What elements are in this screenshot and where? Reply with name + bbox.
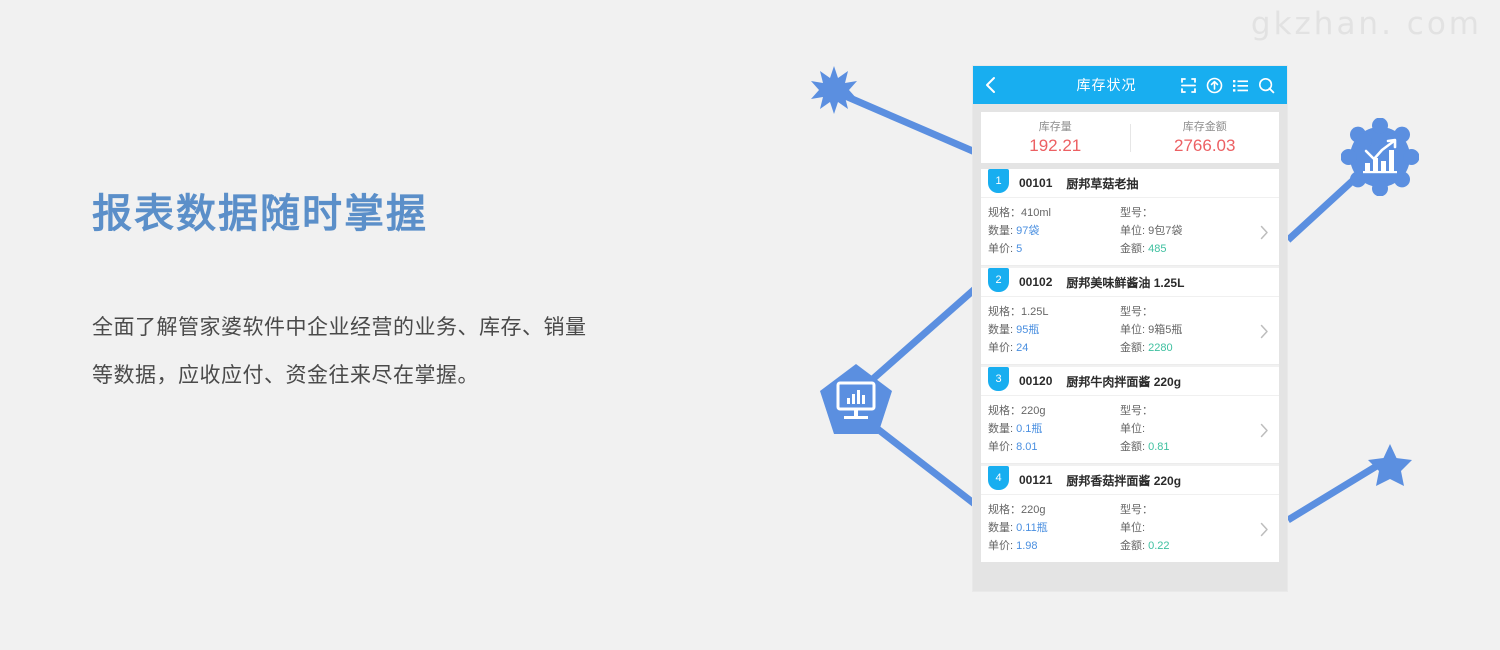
upload-circle-icon[interactable] [1206, 77, 1223, 94]
model-row: 型号： [1120, 204, 1260, 222]
item-name: 厨邦牛肉拌面酱 220g [1066, 373, 1181, 390]
qty-label: 数量: [988, 324, 1013, 336]
spec-label: 规格： [988, 504, 1021, 516]
amount-row: 金额: 2280 [1120, 339, 1260, 357]
app-title: 库存状况 [1005, 75, 1180, 95]
model-label: 型号： [1120, 405, 1153, 417]
price-label: 单价: [988, 540, 1013, 552]
scan-icon[interactable] [1180, 77, 1197, 94]
spec-label: 规格： [988, 306, 1021, 318]
spec-row: 规格：220g [988, 501, 1120, 519]
pentagon-monitor-badge [818, 362, 894, 438]
star-badge [1367, 442, 1413, 488]
list-item-header[interactable]: 2 00102 厨邦美味鲜酱油 1.25L [981, 268, 1279, 297]
spec-label: 规格： [988, 207, 1021, 219]
unit-label: 单位: [1120, 225, 1145, 237]
unit-label: 单位: [1120, 423, 1145, 435]
model-label: 型号： [1120, 504, 1153, 516]
qty-row: 数量: 0.11瓶 [988, 519, 1120, 537]
item-code: 00101 [1019, 176, 1052, 190]
qty-label: 数量: [988, 225, 1013, 237]
qty-label: 数量: [988, 423, 1013, 435]
qty-value: 95瓶 [1016, 324, 1039, 336]
item-name: 厨邦香菇拌面酱 220g [1066, 472, 1181, 489]
app-header: 库存状况 [973, 66, 1287, 104]
qty-value: 0.1瓶 [1016, 423, 1042, 435]
item-code: 00120 [1019, 374, 1052, 388]
model-row: 型号： [1120, 303, 1260, 321]
spec-value: 410ml [1021, 207, 1051, 219]
price-value: 8.01 [1016, 441, 1037, 453]
page-root: gkzhan. com 报表数据随时掌握 全面了解管家婆软件中企业经营的业务、库… [0, 0, 1500, 650]
amount-row: 金额: 0.81 [1120, 438, 1260, 456]
unit-row: 单位: [1120, 420, 1260, 438]
price-row: 单价: 1.98 [988, 537, 1120, 555]
spec-label: 规格： [988, 405, 1021, 417]
bar-chart-trend-icon [1341, 118, 1419, 196]
qty-value: 0.11瓶 [1016, 522, 1048, 534]
spec-value: 220g [1021, 405, 1045, 417]
list-icon[interactable] [1232, 77, 1249, 94]
monitor-chart-icon [818, 362, 894, 438]
amount-row: 金额: 485 [1120, 240, 1260, 258]
list-item-details[interactable]: 规格：1.25L 数量: 95瓶 单价: 24 型号： 单位: 9箱5瓶 金额:… [981, 297, 1279, 365]
page-title: 报表数据随时掌握 [92, 190, 652, 238]
phone-footer-space [973, 562, 1287, 591]
back-button[interactable] [985, 76, 1005, 94]
chevron-right-icon[interactable] [1260, 225, 1269, 245]
chevron-right-icon[interactable] [1260, 522, 1269, 542]
summary-cell-quantity: 库存量 192.21 [981, 119, 1130, 156]
price-value: 1.98 [1016, 540, 1037, 552]
unit-value: 9箱5瓶 [1148, 324, 1182, 336]
model-label: 型号： [1120, 306, 1153, 318]
watermark: gkzhan. com [1251, 6, 1482, 42]
spec-value: 1.25L [1021, 306, 1049, 318]
summary-label: 库存金额 [1131, 119, 1280, 135]
price-label: 单价: [988, 441, 1013, 453]
unit-label: 单位: [1120, 324, 1145, 336]
model-label: 型号： [1120, 207, 1153, 219]
summary-card: 库存量 192.21 库存金额 2766.03 [981, 112, 1279, 163]
price-row: 单价: 8.01 [988, 438, 1120, 456]
detail-col-left: 规格：220g 数量: 0.11瓶 单价: 1.98 [988, 501, 1120, 555]
unit-value: 9包7袋 [1148, 225, 1182, 237]
summary-cell-amount: 库存金额 2766.03 [1131, 119, 1280, 156]
chevron-right-icon[interactable] [1260, 324, 1269, 344]
unit-label: 单位: [1120, 522, 1145, 534]
spec-row: 规格：410ml [988, 204, 1120, 222]
unit-row: 单位: 9箱5瓶 [1120, 321, 1260, 339]
item-number-badge: 1 [988, 169, 1009, 193]
summary-label: 库存量 [981, 119, 1130, 135]
price-value: 24 [1016, 342, 1028, 354]
list-item-details[interactable]: 规格：220g 数量: 0.1瓶 单价: 8.01 型号： 单位: 金额: 0.… [981, 396, 1279, 464]
qty-row: 数量: 97袋 [988, 222, 1120, 240]
chevron-right-icon[interactable] [1260, 423, 1269, 443]
price-label: 单价: [988, 342, 1013, 354]
marketing-copy: 报表数据随时掌握 全面了解管家婆软件中企业经营的业务、库存、销量等数据，应收应付… [92, 190, 652, 400]
inventory-list: 1 00101 厨邦草菇老抽 规格：410ml 数量: 97袋 单价: 5 型号… [981, 169, 1279, 562]
item-name: 厨邦草菇老抽 [1066, 175, 1138, 192]
search-icon[interactable] [1258, 77, 1275, 94]
page-description: 全面了解管家婆软件中企业经营的业务、库存、销量等数据，应收应付、资金往来尽在掌握… [92, 238, 592, 400]
amount-value: 485 [1148, 243, 1166, 255]
model-row: 型号： [1120, 402, 1260, 420]
list-item-header[interactable]: 4 00121 厨邦香菇拌面酱 220g [981, 466, 1279, 495]
qty-value: 97袋 [1016, 225, 1039, 237]
spec-row: 规格：1.25L [988, 303, 1120, 321]
detail-col-right: 型号： 单位: 9包7袋 金额: 485 [1120, 204, 1260, 258]
item-code: 00102 [1019, 275, 1052, 289]
list-item-header[interactable]: 3 00120 厨邦牛肉拌面酱 220g [981, 367, 1279, 396]
amount-label: 金额: [1120, 243, 1145, 255]
detail-col-left: 规格：220g 数量: 0.1瓶 单价: 8.01 [988, 402, 1120, 456]
spec-row: 规格：220g [988, 402, 1120, 420]
qty-row: 数量: 0.1瓶 [988, 420, 1120, 438]
amount-row: 金额: 0.22 [1120, 537, 1260, 555]
qty-row: 数量: 95瓶 [988, 321, 1120, 339]
amount-value: 0.22 [1148, 540, 1169, 552]
summary-value: 192.21 [981, 135, 1130, 156]
list-item-details[interactable]: 规格：220g 数量: 0.11瓶 单价: 1.98 型号： 单位: 金额: 0… [981, 495, 1279, 562]
item-number-badge: 2 [988, 268, 1009, 292]
amount-value: 2280 [1148, 342, 1172, 354]
list-item-header[interactable]: 1 00101 厨邦草菇老抽 [981, 169, 1279, 198]
qty-label: 数量: [988, 522, 1013, 534]
detail-col-left: 规格：1.25L 数量: 95瓶 单价: 24 [988, 303, 1120, 357]
spec-value: 220g [1021, 504, 1045, 516]
model-row: 型号： [1120, 501, 1260, 519]
star-icon [1367, 442, 1413, 488]
phone-mockup: 库存状况 [973, 66, 1287, 591]
header-actions [1180, 77, 1275, 94]
scalloped-chart-badge [1341, 118, 1419, 196]
starburst-badge [808, 64, 860, 116]
price-value: 5 [1016, 243, 1022, 255]
amount-value: 0.81 [1148, 441, 1169, 453]
list-item-details[interactable]: 规格：410ml 数量: 97袋 单价: 5 型号： 单位: 9包7袋 金额: … [981, 198, 1279, 266]
chevron-left-icon [985, 76, 996, 94]
item-number-badge: 4 [988, 466, 1009, 490]
unit-row: 单位: [1120, 519, 1260, 537]
price-row: 单价: 24 [988, 339, 1120, 357]
price-row: 单价: 5 [988, 240, 1120, 258]
amount-label: 金额: [1120, 441, 1145, 453]
amount-label: 金额: [1120, 342, 1145, 354]
item-number-badge: 3 [988, 367, 1009, 391]
starburst-icon [808, 64, 860, 116]
amount-label: 金额: [1120, 540, 1145, 552]
detail-col-right: 型号： 单位: 9箱5瓶 金额: 2280 [1120, 303, 1260, 357]
item-name: 厨邦美味鲜酱油 1.25L [1066, 274, 1184, 291]
price-label: 单价: [988, 243, 1013, 255]
item-code: 00121 [1019, 473, 1052, 487]
detail-col-right: 型号： 单位: 金额: 0.22 [1120, 501, 1260, 555]
unit-row: 单位: 9包7袋 [1120, 222, 1260, 240]
detail-col-right: 型号： 单位: 金额: 0.81 [1120, 402, 1260, 456]
detail-col-left: 规格：410ml 数量: 97袋 单价: 5 [988, 204, 1120, 258]
summary-value: 2766.03 [1131, 135, 1280, 156]
